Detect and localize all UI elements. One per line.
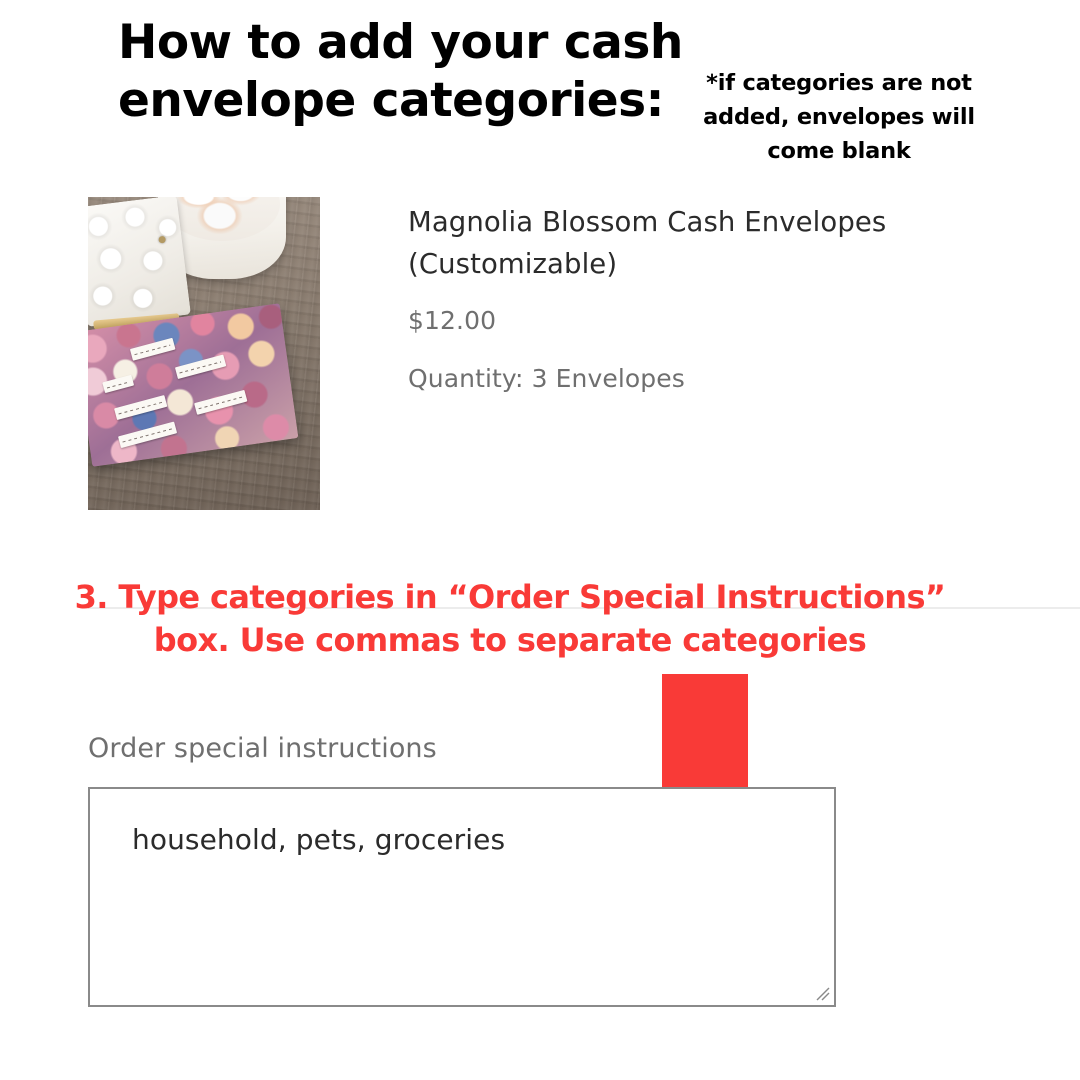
product-thumbnail <box>88 197 320 510</box>
page-title-line-2: envelope categories: <box>118 72 658 130</box>
warning-note-line-3: come blank <box>668 134 1010 168</box>
envelope-label <box>175 355 226 380</box>
resize-handle-icon[interactable] <box>815 986 831 1002</box>
envelope-label <box>194 390 247 415</box>
floral-envelope-stack <box>88 303 298 467</box>
product-details: Magnolia Blossom Cash Envelopes (Customi… <box>408 201 968 396</box>
order-special-instructions-value: household, pets, groceries <box>132 822 505 858</box>
order-special-instructions-label: Order special instructions <box>88 731 437 767</box>
product-line-item: Magnolia Blossom Cash Envelopes (Customi… <box>88 197 968 517</box>
warning-note-line-2: added, envelopes will <box>668 100 1010 134</box>
step-instruction-line-2: box. Use commas to separate categories <box>40 619 980 662</box>
product-quantity: Quantity: 3 Envelopes <box>408 362 968 396</box>
quilted-wallet <box>88 197 191 327</box>
envelope-label <box>102 375 134 393</box>
product-price: $12.00 <box>408 304 968 338</box>
infographic-page: How to add your cash envelope categories… <box>0 0 1080 1080</box>
product-title: Magnolia Blossom Cash Envelopes (Customi… <box>408 201 968 285</box>
page-title: How to add your cash envelope categories… <box>118 14 658 130</box>
step-instruction-line-1: 3. Type categories in “Order Special Ins… <box>40 576 980 619</box>
warning-note-line-1: *if categories are not <box>668 66 1010 100</box>
envelope-label <box>130 338 176 361</box>
envelope-label <box>118 422 177 449</box>
wallet-clasp <box>158 236 166 244</box>
page-title-line-1: How to add your cash <box>118 14 658 72</box>
step-instruction: 3. Type categories in “Order Special Ins… <box>40 576 980 662</box>
warning-note: *if categories are not added, envelopes … <box>668 66 1010 168</box>
order-special-instructions-input[interactable]: household, pets, groceries <box>88 787 836 1007</box>
envelope-label <box>114 395 167 420</box>
